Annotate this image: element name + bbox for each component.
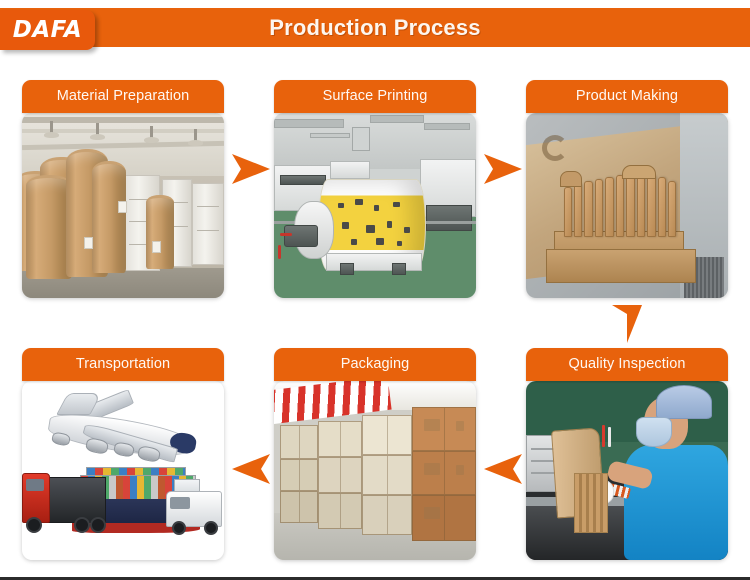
step-card-image [22, 113, 224, 298]
step-card-image [526, 113, 728, 298]
illustration-paper-rolls [22, 113, 224, 298]
step-card-header: Surface Printing [274, 80, 476, 113]
step-card-label: Transportation [22, 348, 224, 381]
illustration-paper-bags [526, 113, 728, 298]
brand-logo[interactable]: DAFA [0, 10, 95, 50]
step-card-image [22, 381, 224, 560]
arrow-left-icon-1 [232, 452, 272, 486]
step-card-surface-printing[interactable]: Surface Printing [274, 80, 476, 298]
illustration-transportation [22, 381, 224, 560]
step-card-label: Material Preparation [22, 80, 224, 113]
arrow-right-icon-1 [232, 152, 272, 186]
illustration-printing-press [274, 113, 476, 298]
step-card-quality-inspection[interactable]: Quality Inspection [526, 348, 728, 560]
step-card-header: Product Making [526, 80, 728, 113]
step-card-label: Surface Printing [274, 80, 476, 113]
arrow-left-icon-2 [484, 452, 524, 486]
step-card-transportation[interactable]: Transportation [22, 348, 224, 560]
step-card-header: Packaging [274, 348, 476, 381]
step-card-label: Product Making [526, 80, 728, 113]
step-card-packaging[interactable]: Packaging [274, 348, 476, 560]
brand-logo-text: DAFA [0, 10, 95, 50]
step-card-image [274, 381, 476, 560]
step-card-header: Material Preparation [22, 80, 224, 113]
page-title: Production Process [0, 8, 750, 47]
step-card-header: Quality Inspection [526, 348, 728, 381]
step-card-material-preparation[interactable]: Material Preparation [22, 80, 224, 298]
step-card-label: Quality Inspection [526, 348, 728, 381]
arrow-down-icon [610, 305, 644, 345]
step-card-image [526, 381, 728, 560]
illustration-packed-cartons [274, 381, 476, 560]
step-card-product-making[interactable]: Product Making [526, 80, 728, 298]
illustration-quality-inspection [526, 381, 728, 560]
step-card-header: Transportation [22, 348, 224, 381]
step-card-label: Packaging [274, 348, 476, 381]
step-card-image [274, 113, 476, 298]
arrow-right-icon-2 [484, 152, 524, 186]
